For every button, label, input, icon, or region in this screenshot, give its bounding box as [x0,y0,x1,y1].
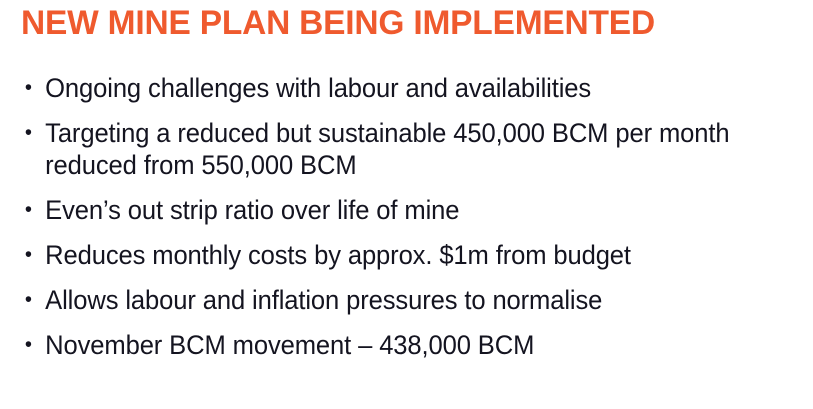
page-title: NEW MINE PLAN BEING IMPLEMENTED [21,2,655,44]
list-item: • Allows labour and inflation pressures … [22,284,770,316]
list-item: • November BCM movement – 438,000 BCM [22,329,770,361]
list-item: • Targeting a reduced but sustainable 45… [22,117,770,181]
list-item-label: Ongoing challenges with labour and avail… [45,72,770,104]
list-item: • Reduces monthly costs by approx. $1m f… [22,239,770,271]
list-item: • Even’s out strip ratio over life of mi… [22,194,770,226]
bullet-point-icon: • [25,117,32,149]
list-item-label: Even’s out strip ratio over life of mine [45,194,770,226]
list-item: • Ongoing challenges with labour and ava… [22,72,770,104]
bullet-point-icon: • [25,329,32,361]
list-item-label: Reduces monthly costs by approx. $1m fro… [45,239,770,271]
bullet-point-icon: • [25,194,32,226]
slide-canvas: NEW MINE PLAN BEING IMPLEMENTED • Ongoin… [0,0,813,409]
bullet-point-icon: • [25,284,32,316]
list-item-label: November BCM movement – 438,000 BCM [45,329,770,361]
list-item-label: Allows labour and inflation pressures to… [45,284,770,316]
bullet-point-icon: • [25,72,32,104]
list-item-label: Targeting a reduced but sustainable 450,… [45,117,770,181]
bullet-list: • Ongoing challenges with labour and ava… [22,72,797,361]
bullet-point-icon: • [25,239,32,271]
